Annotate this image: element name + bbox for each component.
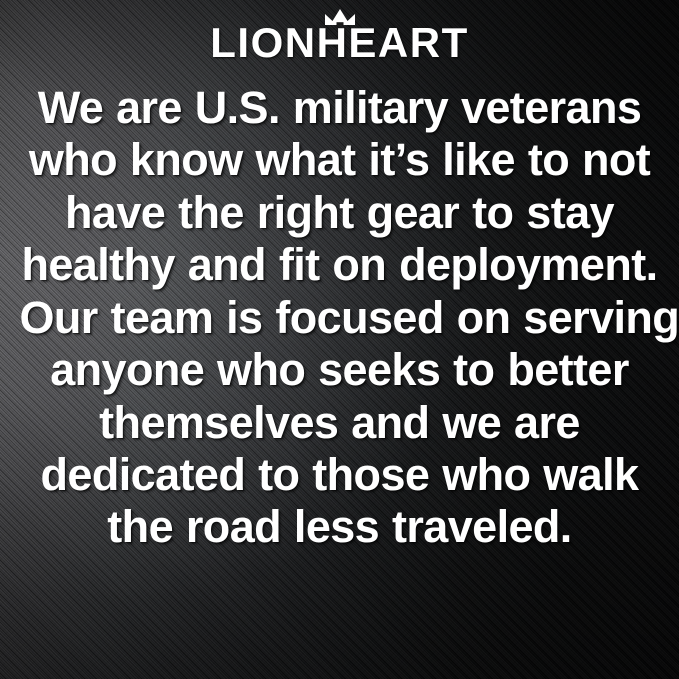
brand-wordmark-heart: HEART xyxy=(317,22,469,64)
statement-line: Our team is focused on serving xyxy=(20,292,660,344)
statement-line: the road less traveled. xyxy=(20,501,660,553)
brand-logo: LION HEART xyxy=(210,8,469,64)
brand-wordmark-lion: LION xyxy=(210,22,316,64)
statement-line: We are U.S. military veterans xyxy=(20,82,660,134)
statement-line: healthy and fit on deployment. xyxy=(20,239,660,291)
statement-line: themselves and we are xyxy=(20,397,660,449)
crown-icon xyxy=(325,8,355,25)
poster-content: LION HEART We are U.S. military veterans… xyxy=(0,0,679,679)
statement-line: have the right gear to stay xyxy=(20,187,660,239)
brand-wordmark: LION HEART xyxy=(210,22,469,64)
brand-statement-poster: LION HEART We are U.S. military veterans… xyxy=(0,0,679,679)
statement-line: anyone who seeks to better xyxy=(20,344,660,396)
brand-statement-text: We are U.S. military veterans who know w… xyxy=(20,82,660,554)
statement-line: who know what it’s like to not xyxy=(20,134,660,186)
statement-line: dedicated to those who walk xyxy=(20,449,660,501)
